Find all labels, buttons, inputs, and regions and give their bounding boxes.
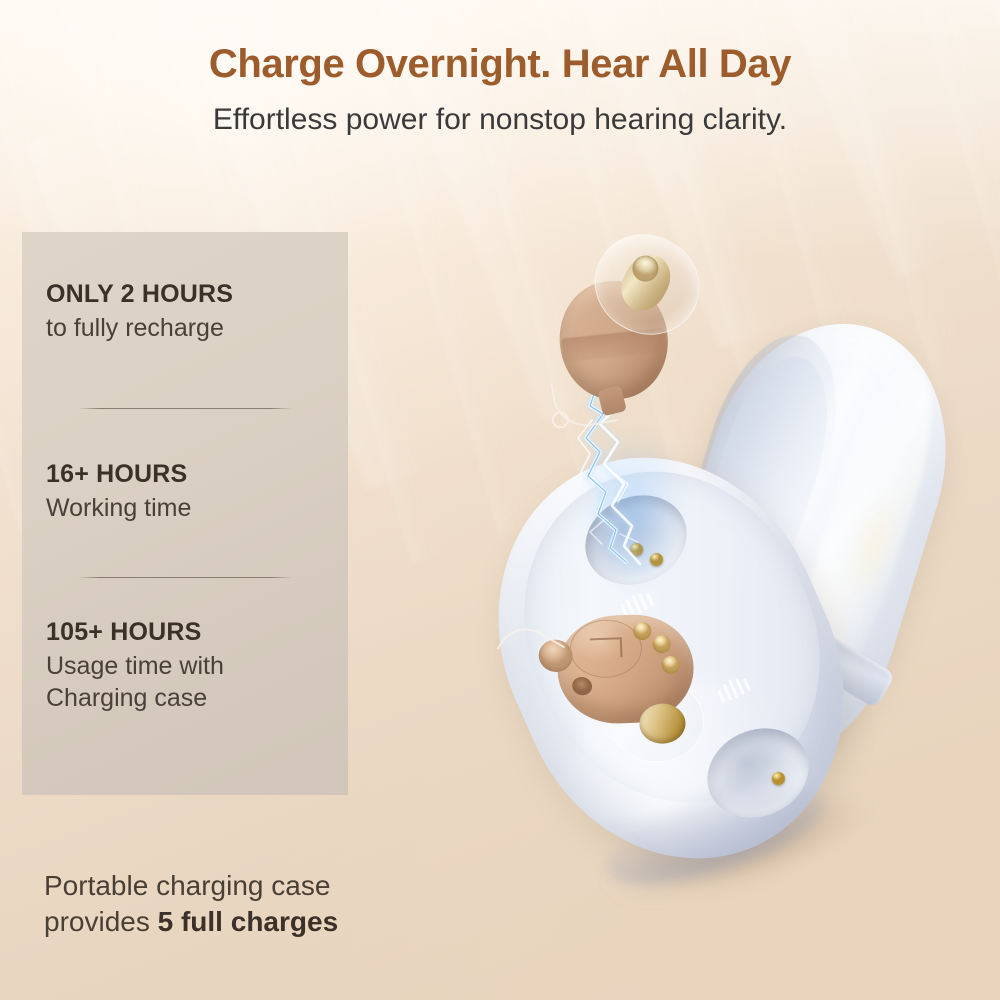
caption-line-2-strong: 5 full charges xyxy=(158,906,339,937)
removal-wire xyxy=(497,617,565,677)
product-marketing-poster: LiDO xyxy=(0,0,1000,1000)
microphone-port xyxy=(570,675,594,697)
gold-contact xyxy=(651,633,673,655)
gold-charging-pin xyxy=(630,543,643,556)
ear-dome-upper xyxy=(577,216,717,352)
hearing-aid-shell-upper xyxy=(554,276,674,405)
lid-inner-face xyxy=(680,344,848,623)
hearing-aid-lower xyxy=(481,573,726,789)
page-headline: Charge Overnight. Hear All Day xyxy=(0,43,1000,85)
ear-dome-lower xyxy=(608,679,705,764)
battery-stem xyxy=(597,385,627,416)
arc-glow xyxy=(556,390,706,590)
hearing-aid-upper xyxy=(531,220,720,427)
case-body-gloss xyxy=(541,650,791,849)
removal-wire-loop xyxy=(551,410,570,429)
case-drop-shadow xyxy=(554,752,925,940)
brand-mark-icon xyxy=(590,637,623,658)
gold-contact xyxy=(631,620,653,642)
sound-nozzle xyxy=(613,247,679,319)
nozzle-cap xyxy=(628,251,663,286)
removal-wire xyxy=(550,374,617,432)
hearing-aid-faceplate xyxy=(569,619,643,679)
gold-nozzle-tip xyxy=(639,703,686,745)
charging-well-left xyxy=(571,480,701,601)
feature-item-3: 105+ HOURS Usage time with Charging case xyxy=(46,618,316,715)
case-body-bottom-shading xyxy=(595,766,835,904)
caption-line-1: Portable charging case xyxy=(44,870,330,901)
feature-item-2: 16+ HOURS Working time xyxy=(46,460,316,524)
lid-warm-reflection xyxy=(824,465,923,625)
feature-title: 105+ HOURS xyxy=(46,618,316,648)
charging-case-lid xyxy=(627,294,981,794)
lid-gloss-highlight xyxy=(781,356,952,694)
feature-divider-1 xyxy=(78,408,292,409)
lid-hinge xyxy=(796,627,895,709)
feature-divider-2 xyxy=(78,577,292,578)
lid-hinge-gap xyxy=(750,592,885,680)
charging-case-body xyxy=(442,405,900,911)
bottom-caption: Portable charging case provides 5 full c… xyxy=(44,868,464,940)
gold-contact xyxy=(660,654,682,676)
arc-svg xyxy=(540,380,740,595)
electric-charging-arc xyxy=(540,380,740,590)
caption-line-2-prefix: provides xyxy=(44,906,158,937)
hearing-aid-shell-lower xyxy=(556,613,696,726)
gold-charging-pin xyxy=(772,772,785,785)
feature-item-1: ONLY 2 HOURS to fully recharge xyxy=(46,280,316,344)
shell-seam xyxy=(561,328,667,363)
lid-inner-rim xyxy=(659,319,861,641)
charging-well-right xyxy=(693,713,823,834)
feature-title: 16+ HOURS xyxy=(46,460,316,490)
case-brand-label: LiDO xyxy=(616,641,662,704)
charging-case-top-face xyxy=(475,426,868,849)
battery-indicator-display: LiDO xyxy=(615,554,786,740)
feature-description: Usage time with Charging case xyxy=(46,650,316,715)
page-subheadline: Effortless power for nonstop hearing cla… xyxy=(0,103,1000,138)
feature-title: ONLY 2 HOURS xyxy=(46,280,316,310)
gold-charging-pin xyxy=(650,553,663,566)
feature-description: to fully recharge xyxy=(46,312,316,345)
feature-description: Working time xyxy=(46,492,316,525)
volume-knob xyxy=(535,636,576,675)
